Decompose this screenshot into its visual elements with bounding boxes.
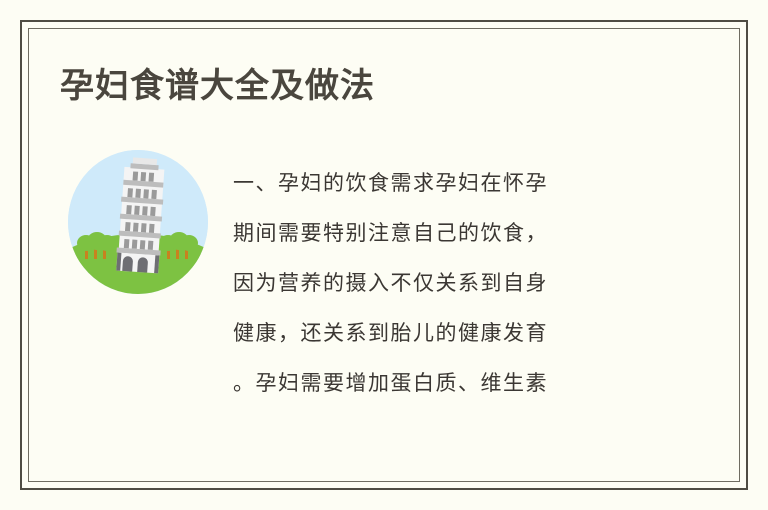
- article-line: 。孕妇需要增加蛋白质、维生素: [233, 358, 663, 408]
- article-line: 期间需要特别注意自己的饮食，: [233, 208, 663, 258]
- article-content: 一、孕妇的饮食需求孕妇在怀孕 期间需要特别注意自己的饮食， 因为营养的摄入不仅关…: [60, 148, 680, 408]
- page-title: 孕妇食谱大全及做法: [60, 64, 375, 108]
- article-card-page: 孕妇食谱大全及做法: [0, 0, 768, 510]
- article-line: 一、孕妇的饮食需求孕妇在怀孕: [233, 158, 663, 208]
- article-thumbnail: [68, 150, 208, 294]
- article-line: 因为营养的摄入不仅关系到自身: [233, 258, 663, 308]
- article-line: 健康，还关系到胎儿的健康发育: [233, 308, 663, 358]
- article-body: 一、孕妇的饮食需求孕妇在怀孕 期间需要特别注意自己的饮食， 因为营养的摄入不仅关…: [233, 158, 663, 408]
- leaning-tower-of-pisa-icon: [68, 150, 208, 294]
